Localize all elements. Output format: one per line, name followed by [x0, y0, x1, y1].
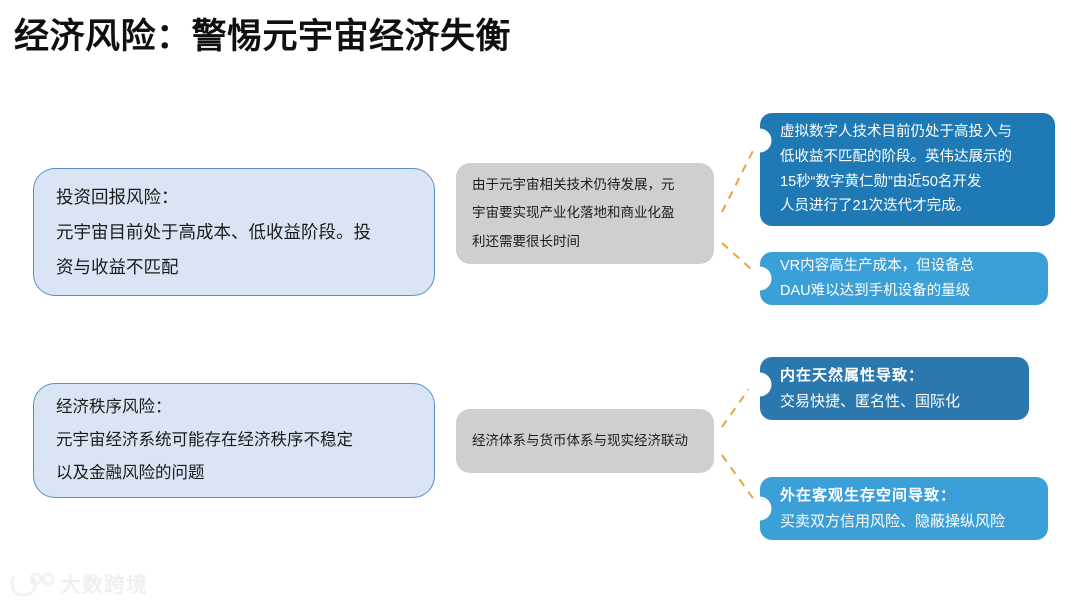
connector-dot-icon [751, 132, 768, 149]
detail-card-line: 低收益不匹配的阶段。英伟达展示的 [780, 145, 1039, 170]
mid-card-line: 宇宙要实现产业化落地和商业化盈 [472, 199, 698, 227]
left-card-line: 资与收益不匹配 [56, 250, 412, 285]
connector-to-virtual-human [722, 137, 760, 212]
detail-card-line: 虚拟数字人技术目前仍处于高投入与 [780, 120, 1039, 145]
left-card-line: 元宇宙目前处于高成本、低收益阶段。投 [56, 215, 412, 250]
mid-card-tech-maturity[interactable]: 由于元宇宙相关技术仍待发展，元 宇宙要实现产业化落地和商业化盈 利还需要很长时间 [456, 163, 714, 264]
detail-card-virtual-human[interactable]: 虚拟数字人技术目前仍处于高投入与 低收益不匹配的阶段。英伟达展示的 15秒“数字… [760, 113, 1055, 226]
detail-card-line: 人员进行了21次迭代才完成。 [780, 194, 1039, 219]
left-card-economic-order-risk[interactable]: 经济秩序风险： 元宇宙经济系统可能存在经济秩序不稳定 以及金融风险的问题 [33, 383, 435, 498]
watermark-text: 大数跨境 [60, 569, 148, 599]
detail-card-external-environment[interactable]: 外在客观生存空间导致： 买卖双方信用风险、隐蔽操纵风险 [760, 477, 1048, 540]
mid-card-economy-linkage[interactable]: 经济体系与货币体系与现实经济联动 [456, 409, 714, 473]
detail-card-vr-content[interactable]: VR内容高生产成本，但设备总 DAU难以达到手机设备的量级 [760, 252, 1048, 305]
detail-card-heading: 外在客观生存空间导致： [780, 483, 1032, 509]
connector-dot-icon [751, 376, 768, 393]
watermark: 大数跨境 [10, 569, 148, 599]
left-card-investment-return-risk[interactable]: 投资回报风险： 元宇宙目前处于高成本、低收益阶段。投 资与收益不匹配 [33, 168, 435, 296]
connector-dot-icon [751, 500, 768, 517]
slide-canvas: 经济风险：警惕元宇宙经济失衡 投资回报风险： 元宇宙目前处于高成本、低收益阶段。… [0, 0, 1080, 607]
left-card-heading: 投资回报风险： [56, 180, 412, 215]
detail-card-line: 15秒“数字黄仁勋”由近50名开发 [780, 170, 1039, 195]
connector-to-external [722, 455, 760, 508]
mid-card-line: 由于元宇宙相关技术仍待发展，元 [472, 171, 698, 199]
mid-card-line: 经济体系与货币体系与现实经济联动 [472, 427, 698, 455]
detail-card-intrinsic-attributes[interactable]: 内在天然属性导致： 交易快捷、匿名性、国际化 [760, 357, 1029, 420]
detail-card-line: DAU难以达到手机设备的量级 [780, 279, 1032, 304]
page-title: 经济风险：警惕元宇宙经济失衡 [14, 8, 511, 59]
left-card-heading: 经济秩序风险： [56, 391, 412, 424]
mid-card-line: 利还需要很长时间 [472, 228, 698, 256]
left-card-line: 元宇宙经济系统可能存在经济秩序不稳定 [56, 424, 412, 457]
detail-card-line: 交易快捷、匿名性、国际化 [780, 389, 1013, 415]
panda-face-icon [10, 571, 54, 597]
detail-card-line: 买卖双方信用风险、隐蔽操纵风险 [780, 509, 1032, 535]
left-card-line: 以及金融风险的问题 [56, 457, 412, 490]
detail-card-line: VR内容高生产成本，但设备总 [780, 254, 1032, 279]
connector-dot-icon [751, 270, 768, 287]
detail-card-heading: 内在天然属性导致： [780, 363, 1013, 389]
